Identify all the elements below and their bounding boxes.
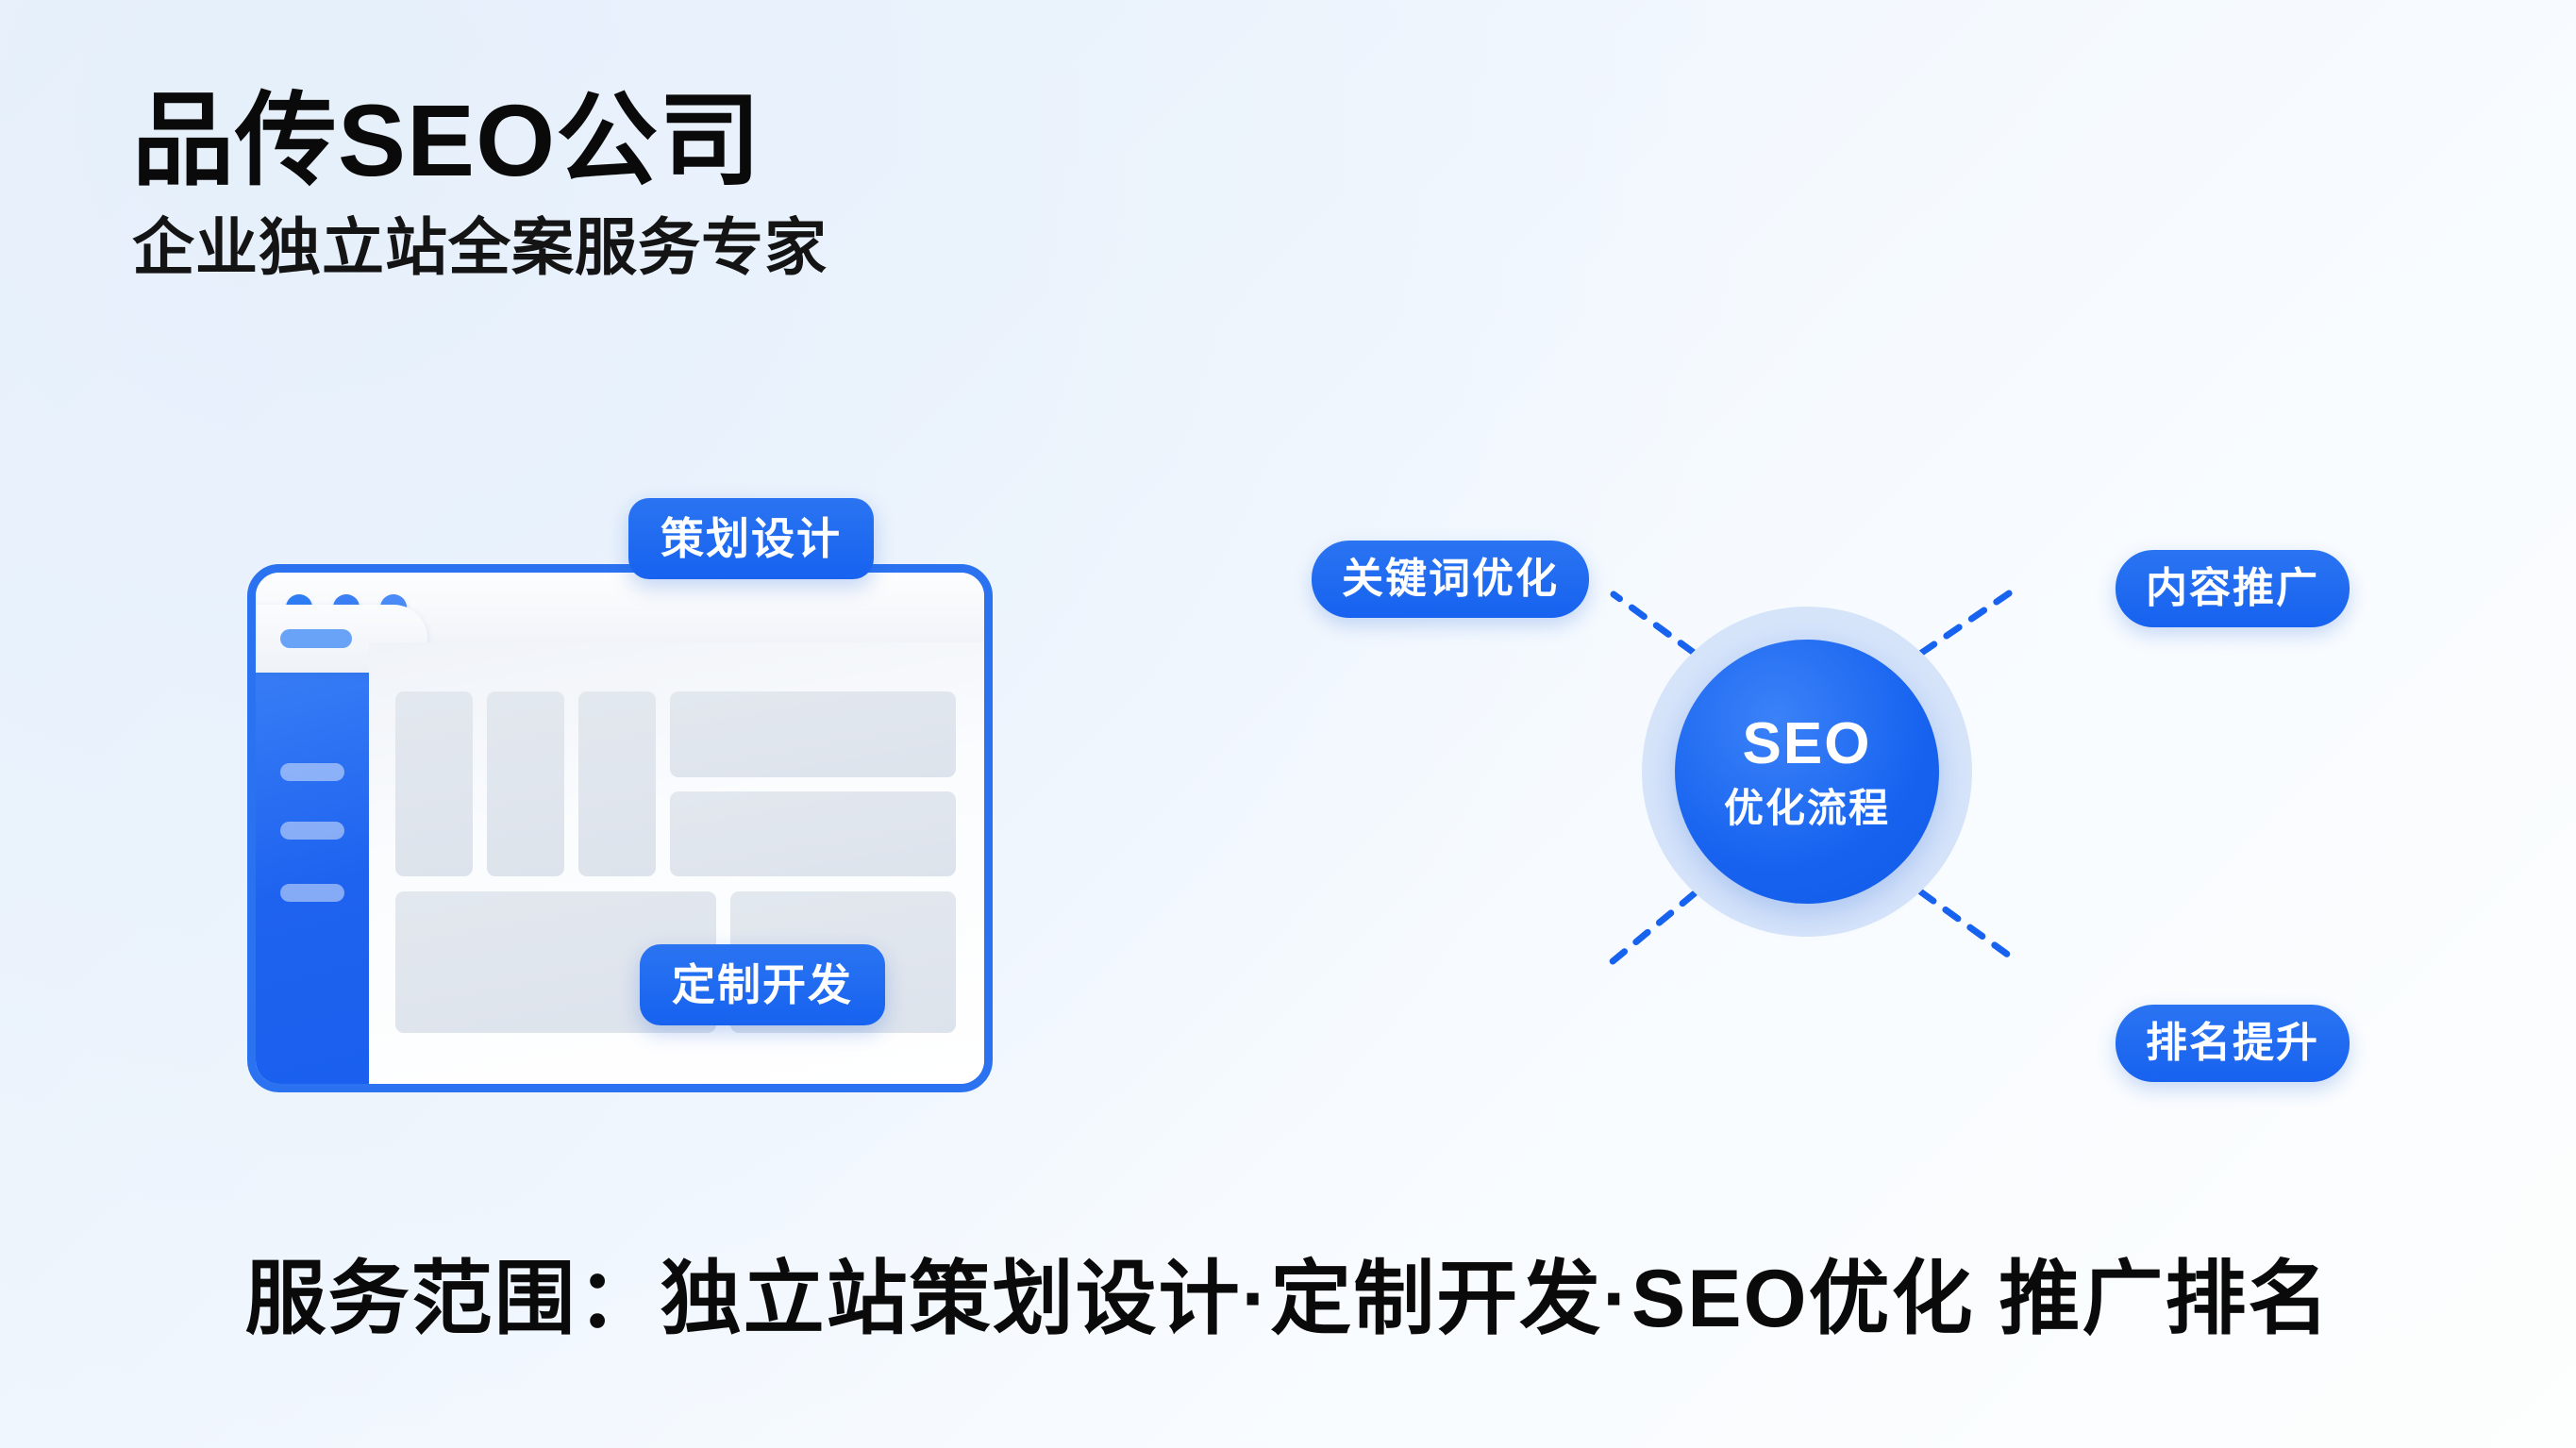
tag-custom-development: 定制开发 <box>640 944 885 1025</box>
tag-planning-design: 策划设计 <box>628 498 874 579</box>
content-column-1 <box>395 691 473 876</box>
poster-canvas: 品传SEO公司 企业独立站全案服务专家 <box>0 0 2576 1448</box>
browser-sidebar <box>256 642 369 1084</box>
sidebar-active-item-bar <box>280 629 352 648</box>
seo-node-ranking-improvement: 排名提升 <box>2116 1005 2350 1082</box>
service-scope-text: 服务范围：独立站策划设计·定制开发·SEO优化 推广排名 <box>0 1255 2576 1344</box>
seo-core-subtitle: 优化流程 <box>1724 789 1890 828</box>
heading-block: 品传SEO公司 企业独立站全案服务专家 <box>132 87 1264 282</box>
sidebar-menu-item-3 <box>280 884 344 902</box>
seo-node-content-promotion: 内容推广 <box>2116 550 2350 627</box>
content-right-column <box>670 691 956 876</box>
content-column-3 <box>578 691 656 876</box>
browser-mockup-illustration: 策划设计 定制开发 <box>247 564 1021 1121</box>
seo-core-title: SEO <box>1743 715 1872 774</box>
seo-center-circle: SEO 优化流程 <box>1675 640 1939 904</box>
sidebar-menu-item-2 <box>280 822 344 840</box>
footer-block: 服务范围：独立站策划设计·定制开发·SEO优化 推广排名 <box>0 1255 2576 1344</box>
page-subtitle: 企业独立站全案服务专家 <box>132 213 1264 282</box>
content-column-2 <box>487 691 564 876</box>
page-title: 品传SEO公司 <box>132 87 1264 194</box>
content-right-block-1 <box>670 691 956 777</box>
seo-process-diagram: SEO 优化流程 关键词优化 内容推广 排名提升 <box>1312 505 2472 1127</box>
sidebar-menu-item-1 <box>280 763 344 781</box>
seo-node-keyword-optimization: 关键词优化 <box>1312 541 1589 618</box>
content-top-row <box>395 691 956 876</box>
content-right-block-2 <box>670 791 956 877</box>
